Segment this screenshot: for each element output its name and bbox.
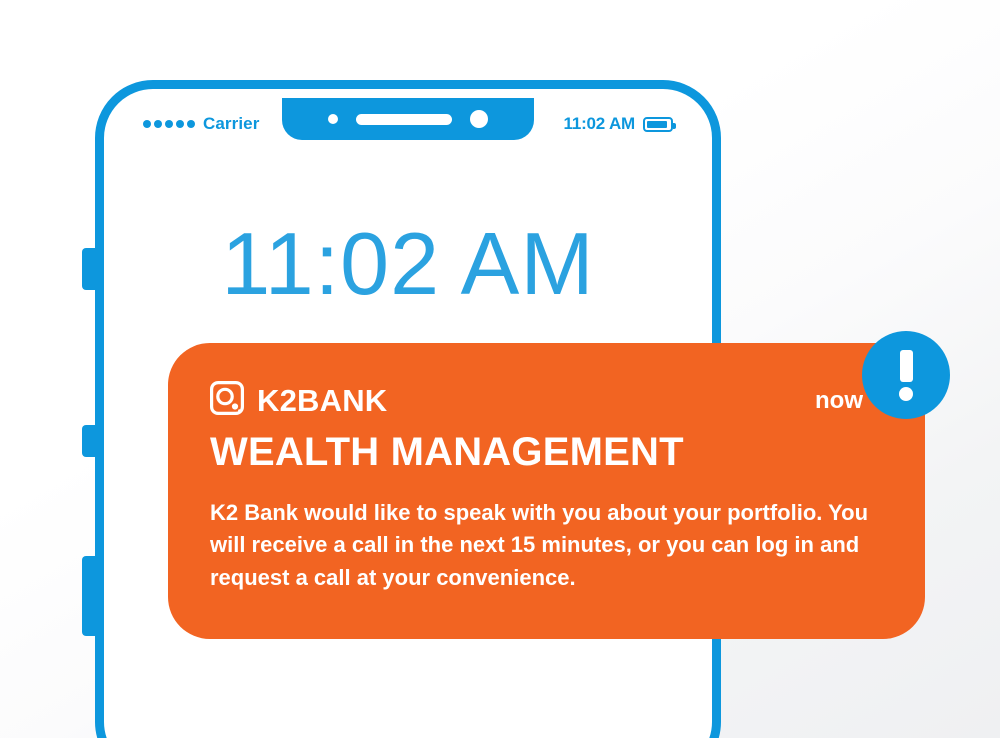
lockscreen-clock: 11:02 AM <box>104 220 712 308</box>
alert-badge[interactable] <box>862 331 950 419</box>
proximity-sensor-icon <box>328 114 338 124</box>
exclamation-icon <box>900 350 913 382</box>
front-camera-icon <box>470 110 488 128</box>
signal-strength-icon <box>143 120 195 128</box>
mute-switch-button[interactable] <box>82 248 95 290</box>
notification-app-name: K2BANK <box>257 383 387 419</box>
battery-fill <box>647 121 667 128</box>
k2bank-logo-icon <box>210 381 244 420</box>
battery-icon <box>643 117 673 132</box>
notification-card[interactable]: K2BANK now WEALTH MANAGEMENT K2 Bank wou… <box>168 343 925 639</box>
carrier-label: Carrier <box>203 114 259 134</box>
phone-notch <box>282 98 534 140</box>
screenshot-canvas: 11:02 AM Carrier 11:02 AM <box>0 0 1000 738</box>
status-bar-left: Carrier <box>143 114 259 134</box>
notification-app-info: K2BANK <box>210 381 387 420</box>
volume-up-button[interactable] <box>82 425 95 457</box>
earpiece-speaker-icon <box>356 114 452 125</box>
volume-down-button[interactable] <box>82 556 95 636</box>
notification-title: WEALTH MANAGEMENT <box>210 430 883 474</box>
status-bar-clock: 11:02 AM <box>564 114 635 134</box>
notification-body-text: K2 Bank would like to speak with you abo… <box>210 497 883 594</box>
status-bar-right: 11:02 AM <box>564 114 673 134</box>
notification-timestamp: now <box>815 387 863 415</box>
notification-header: K2BANK now <box>210 381 883 420</box>
exclamation-dot <box>899 387 913 401</box>
